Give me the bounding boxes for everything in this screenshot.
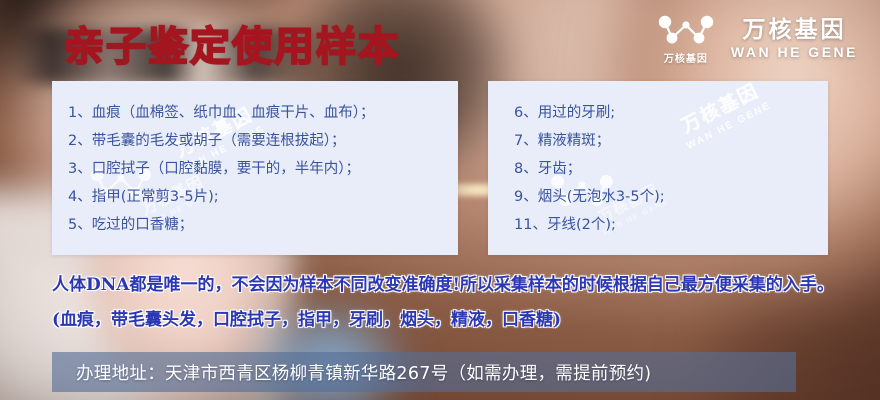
molecule-network-icon — [655, 14, 717, 48]
sample-list-left: 1、血痕（血棉签、纸巾血、血痕干片、血布）； 2、带毛囊的毛发或胡子（需要连根拔… — [52, 81, 458, 239]
sample-panel-right: 万核基因 WAN HE GENE 万核基因 WAN HE GENE — [488, 81, 828, 255]
address-text: 办理地址：天津市西青区杨柳青镇新华路267号（如需办理，需提前预约) — [52, 360, 651, 385]
sample-panels: 万核基因 WAN HE GENE 万核基因 WAN HE GENE — [52, 81, 828, 255]
poster-root: 亲子鉴定使用样本 万核基因 — [0, 0, 880, 400]
logo-mark-label: 万核基因 — [664, 50, 708, 65]
page-title: 亲子鉴定使用样本 — [64, 14, 400, 72]
list-item: 5、吃过的口香糖； — [68, 211, 458, 239]
list-item: 2、带毛囊的毛发或胡子（需要连根拔起）； — [68, 127, 458, 155]
sample-panel-left: 万核基因 WAN HE GENE 万核基因 WAN HE GENE — [52, 81, 458, 255]
list-item: 9、烟头(无泡水3-5个); — [514, 183, 828, 211]
list-item: 8、牙齿； — [514, 155, 828, 183]
note-paragraph: 人体DNA都是唯一的，不会因为样本不同改变准确度!所以采集样本的时候根据自己最方… — [52, 268, 852, 338]
list-item: 11、牙线(2个); — [514, 211, 828, 239]
brand-name-en: WAN HE GENE — [731, 45, 858, 60]
address-bar: 办理地址：天津市西青区杨柳青镇新华路267号（如需办理，需提前预约) — [52, 352, 796, 392]
logo-mark: 万核基因 — [655, 14, 717, 65]
brand-logo: 万核基因 万核基因 WAN HE GENE — [655, 14, 858, 65]
list-item: 3、口腔拭子（口腔黏膜，要干的，半年内）； — [68, 155, 458, 183]
list-item: 7、精液精斑； — [514, 127, 828, 155]
list-item: 6、用过的牙刷; — [514, 99, 828, 127]
logo-wordmark: 万核基因 WAN HE GENE — [731, 18, 858, 61]
list-item: 1、血痕（血棉签、纸巾血、血痕干片、血布）； — [68, 99, 458, 127]
sample-list-right: 6、用过的牙刷; 7、精液精斑； 8、牙齿； 9、烟头(无泡水3-5个); 11… — [488, 81, 828, 239]
list-item: 4、指甲(正常剪3-5片); — [68, 183, 458, 211]
brand-name-cn: 万核基因 — [742, 18, 846, 43]
